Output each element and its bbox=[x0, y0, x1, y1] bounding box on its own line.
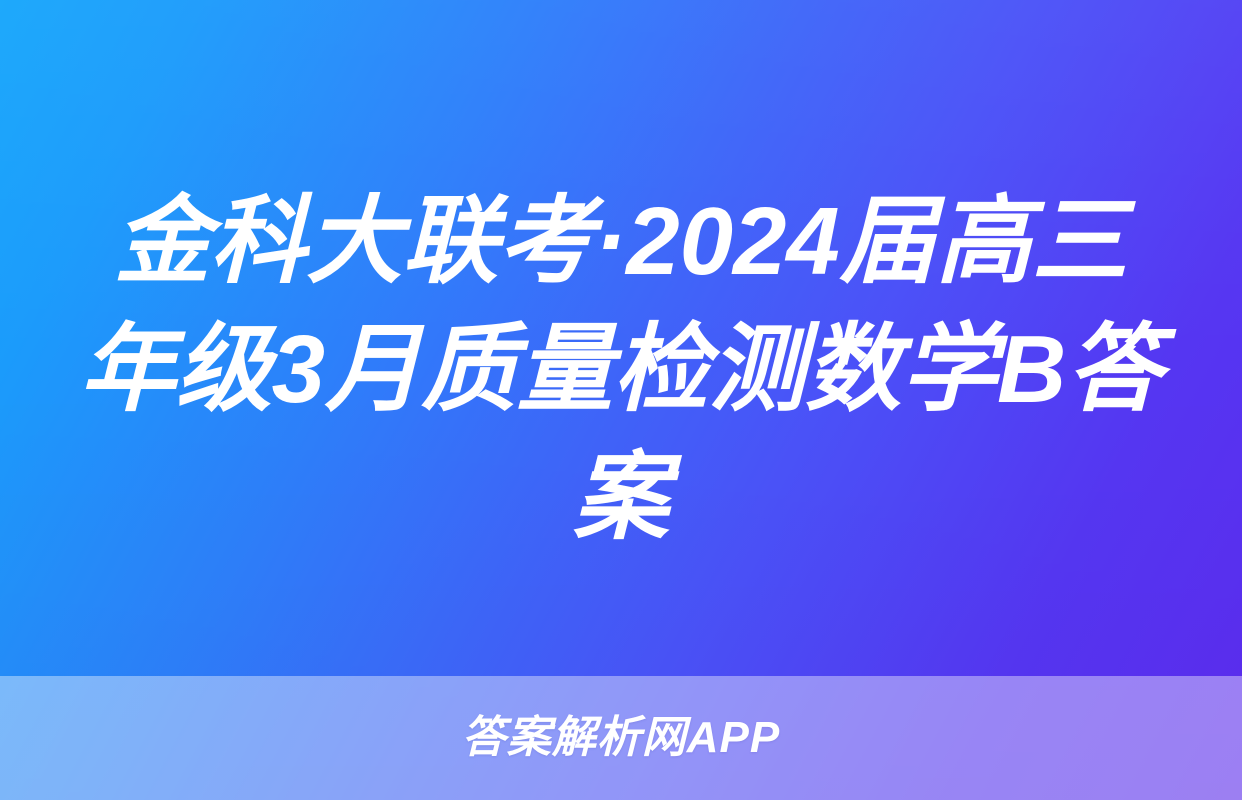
app-watermark-label: 答案解析网APP bbox=[462, 716, 780, 760]
page-title: 金科大联考·2024届高三年级3月质量检测数学B答案 bbox=[74, 178, 1168, 562]
footer-watermark-band: 答案解析网APP bbox=[0, 676, 1242, 800]
promo-banner: 金科大联考·2024届高三年级3月质量检测数学B答案 答案解析网APP bbox=[0, 0, 1242, 800]
banner-title-block: 金科大联考·2024届高三年级3月质量检测数学B答案 bbox=[0, 178, 1242, 562]
